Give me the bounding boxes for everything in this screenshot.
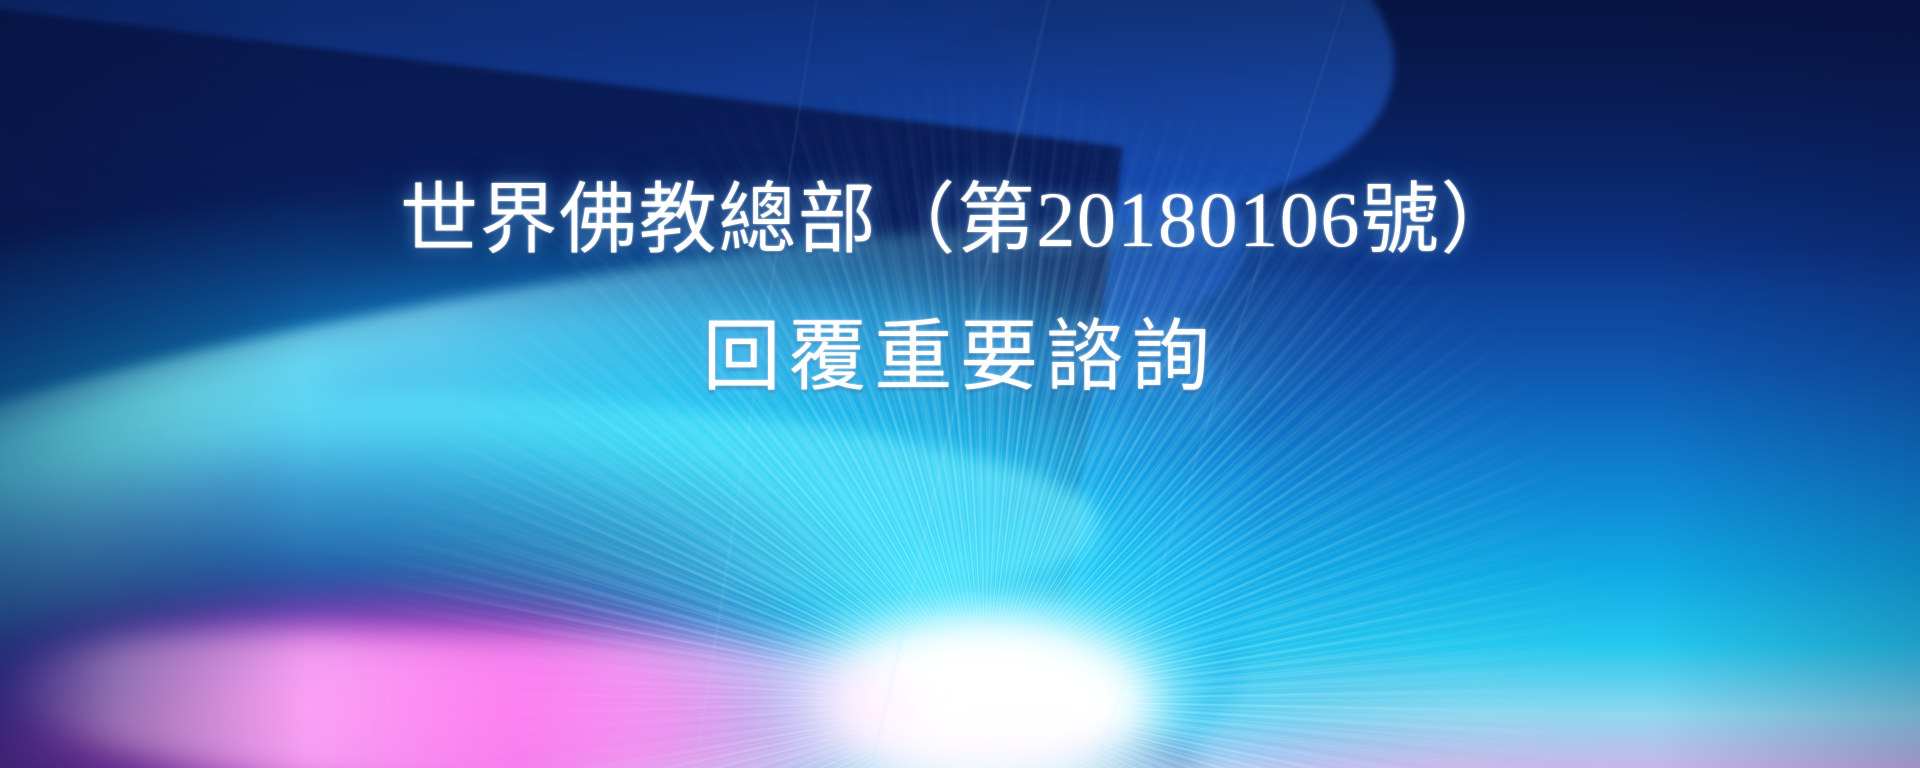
banner-title-line-1: 世界佛教總部（第20180106號） [0,176,1920,263]
burst-core-hot [820,630,1150,768]
banner-image: 世界佛教總部（第20180106號） 回覆重要諮詢 [0,0,1920,768]
banner-title-line-2: 回覆重要諮詢 [0,313,1920,400]
banner-title-block: 世界佛教總部（第20180106號） 回覆重要諮詢 [0,176,1920,401]
